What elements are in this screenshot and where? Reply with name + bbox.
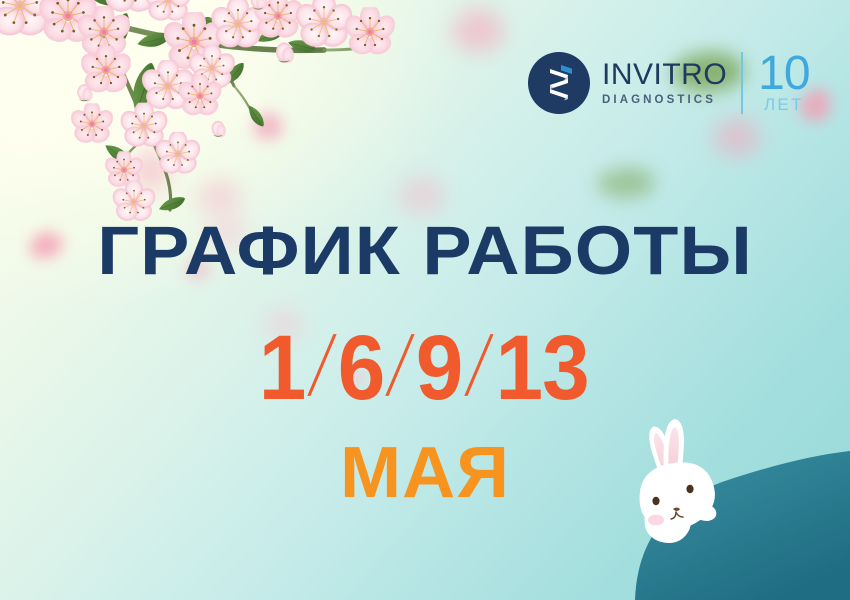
anniversary-word: ЛЕТ	[764, 96, 804, 113]
bunny-hill-illustration	[610, 385, 850, 600]
date-day-2: 6	[337, 322, 384, 414]
bunny-eye-left	[652, 497, 659, 505]
date-separator: /	[382, 324, 418, 408]
logo-wordmark: INVITRO DIAGNOSTICS	[602, 60, 727, 107]
cherry-blossom-branch	[0, 0, 442, 228]
page-title: ГРАФИК РАБОТЫ	[0, 216, 850, 285]
date-day-3: 9	[416, 322, 463, 414]
invitro-dna-helix-logo-icon	[528, 52, 590, 114]
invitro-logo: INVITRO DIAGNOSTICS 10 ЛЕТ	[528, 52, 810, 114]
date-day-4: 13	[496, 322, 589, 414]
anniversary-number: 10	[758, 53, 809, 94]
petal	[714, 118, 760, 156]
banner-root: INVITRO DIAGNOSTICS 10 ЛЕТ ГРАФИК РАБОТЫ…	[0, 0, 850, 600]
brand-name: INVITRO	[602, 60, 727, 90]
date-day-1: 1	[259, 322, 306, 414]
bunny-eye-right	[686, 485, 693, 493]
brand-subtitle: DIAGNOSTICS	[602, 95, 727, 107]
leaf-blur	[597, 168, 655, 198]
bunny-blush	[648, 515, 664, 526]
petal	[452, 8, 504, 52]
date-separator: /	[460, 324, 496, 408]
anniversary-badge: 10 ЛЕТ	[741, 52, 809, 114]
date-separator: /	[304, 324, 340, 408]
